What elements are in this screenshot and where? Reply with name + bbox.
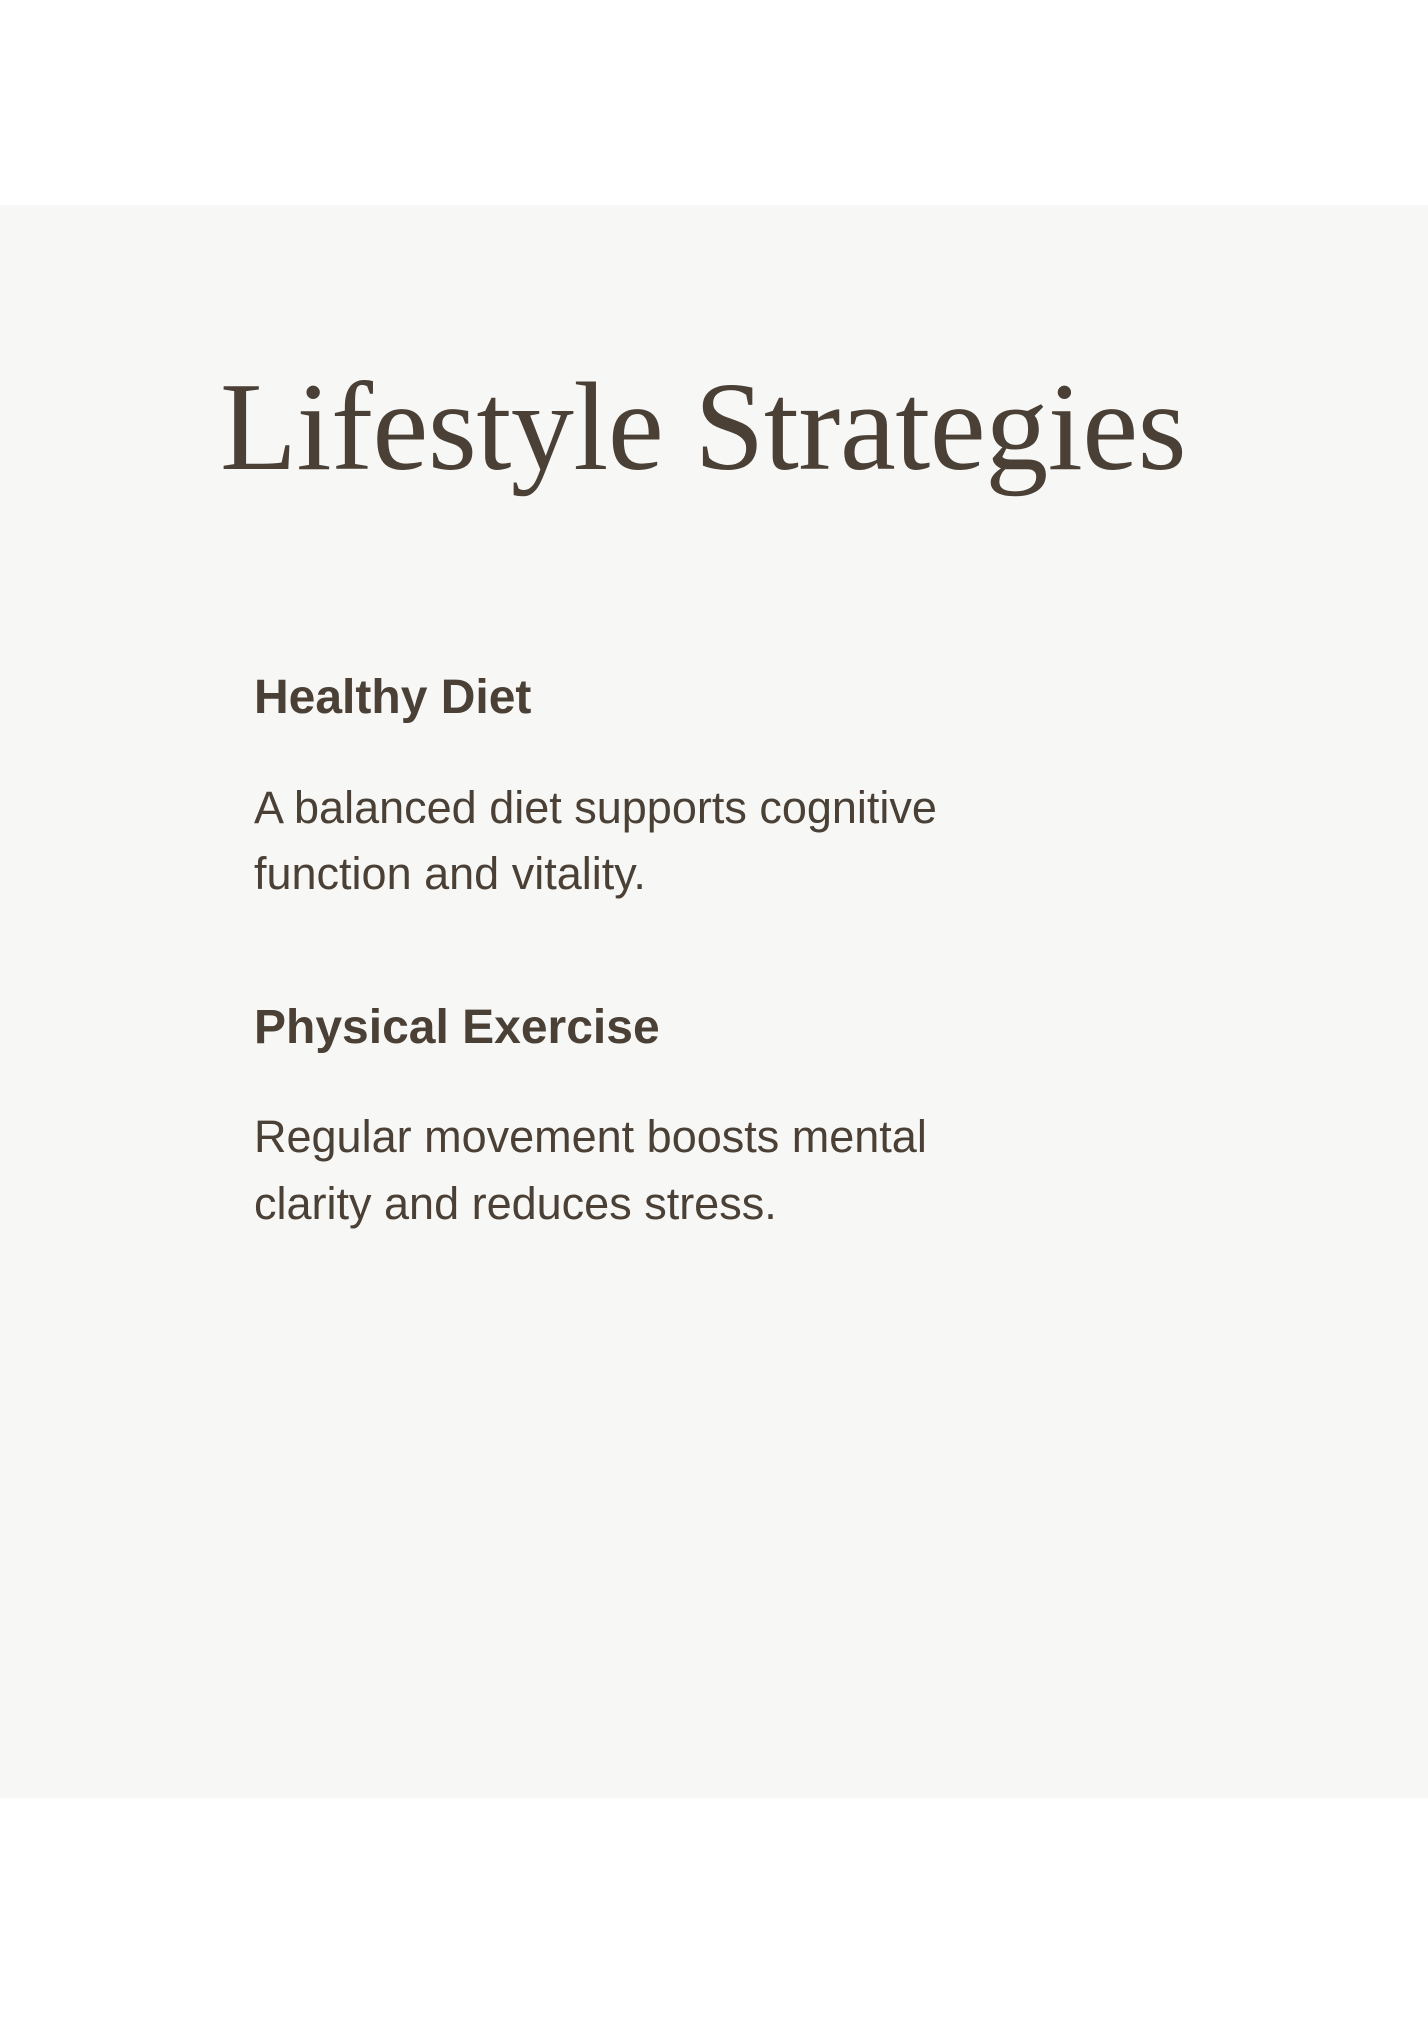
slide-panel: Lifestyle Strategies Healthy Diet A bala… (0, 205, 1428, 1798)
slide-title: Lifestyle Strategies (220, 365, 1186, 491)
spacer (254, 908, 1074, 1000)
spacer (254, 727, 1074, 775)
section-healthy-diet: Healthy Diet A balanced diet supports co… (254, 670, 1074, 908)
section-physical-exercise: Physical Exercise Regular movement boost… (254, 1000, 1074, 1238)
content-column: Healthy Diet A balanced diet supports co… (254, 670, 1074, 1238)
section-heading-healthy-diet: Healthy Diet (254, 670, 1074, 727)
section-body-healthy-diet: A balanced diet supports cognitive funct… (254, 775, 1054, 908)
section-body-physical-exercise: Regular movement boosts mental clarity a… (254, 1104, 1054, 1237)
spacer (254, 1056, 1074, 1104)
section-heading-physical-exercise: Physical Exercise (254, 1000, 1074, 1057)
